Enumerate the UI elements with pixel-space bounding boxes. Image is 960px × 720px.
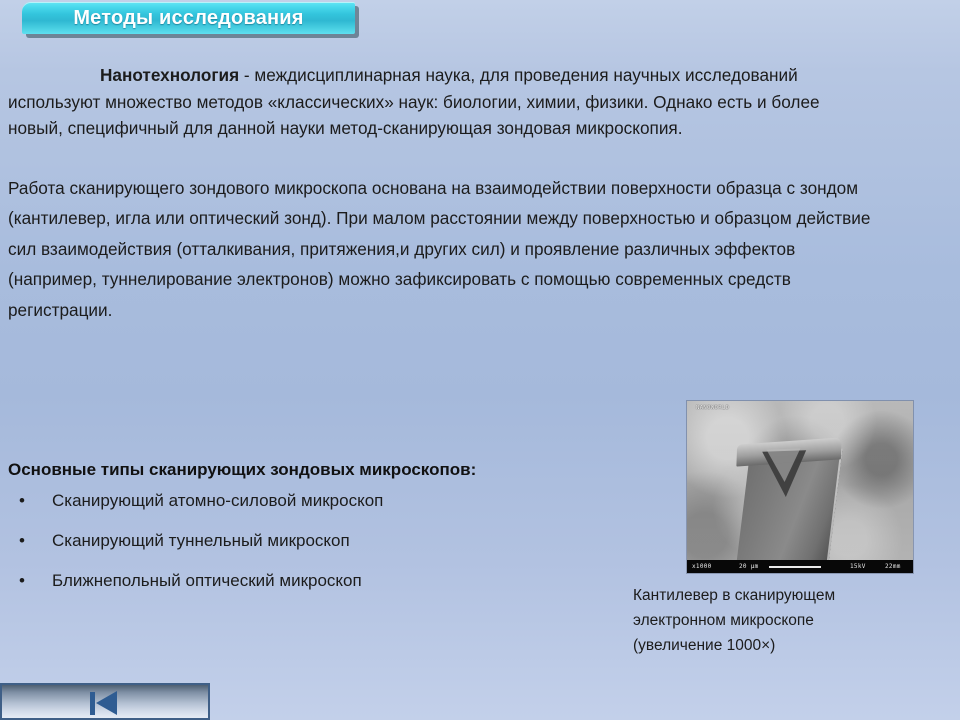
list-item: • Сканирующий атомно-силовой микроскоп xyxy=(8,490,618,512)
slide-title-banner: Методы исследования xyxy=(22,2,355,34)
list-item-label: Сканирующий туннельный микроскоп xyxy=(52,531,350,550)
bullet-icon: • xyxy=(19,530,25,552)
figure-caption-line-1: Кантилевер в сканирующем xyxy=(633,583,933,608)
sem-working-distance-label: 22mm xyxy=(885,563,901,570)
microscope-types-block: Основные типы сканирующих зондовых микро… xyxy=(8,459,618,610)
slide-title-plate: Методы исследования xyxy=(22,2,355,34)
slide-body: Нанотехнология - междисциплинарная наука… xyxy=(8,62,886,325)
paragraph-principle: Работа сканирующего зондового микроскопа… xyxy=(8,173,880,326)
list-item: • Ближнепольный оптический микроскоп xyxy=(8,570,618,592)
cantilever-figure: NANOWORLD x1000 20 µm 15kV 22mm Кантилев… xyxy=(687,401,913,573)
sem-scale-bar xyxy=(769,566,821,568)
paragraph-intro: Нанотехнология - междисциплинарная наука… xyxy=(8,62,876,142)
list-item-label: Ближнепольный оптический микроскоп xyxy=(52,571,362,590)
sem-info-bar: x1000 20 µm 15kV 22mm xyxy=(687,560,913,573)
bottom-navigation-bar xyxy=(0,683,210,720)
sem-magnification-label: x1000 xyxy=(692,563,712,570)
skip-previous-icon xyxy=(90,692,95,715)
sem-scale-label: 20 µm xyxy=(739,563,759,570)
triangle-left-icon xyxy=(96,691,117,715)
skip-to-first-slide-button[interactable] xyxy=(90,691,122,715)
sem-voltage-label: 15kV xyxy=(850,563,866,570)
list-item-label: Сканирующий атомно-силовой микроскоп xyxy=(52,491,383,510)
list-item: • Сканирующий туннельный микроскоп xyxy=(8,530,618,552)
sem-watermark-label: NANOWORLD xyxy=(696,405,729,411)
paragraph-intro-lead: Нанотехнология xyxy=(100,65,239,85)
page-title: Методы исследования xyxy=(73,7,303,30)
microscope-types-list: • Сканирующий атомно-силовой микроскоп •… xyxy=(8,490,618,592)
sem-micrograph-image: NANOWORLD x1000 20 µm 15kV 22mm xyxy=(687,401,913,573)
figure-caption: Кантилевер в сканирующем электронном мик… xyxy=(633,583,933,658)
figure-caption-line-3: (увеличение 1000×) xyxy=(633,633,933,658)
bullet-icon: • xyxy=(19,570,25,592)
cantilever-tip-highlight xyxy=(766,448,801,482)
figure-caption-line-2: электронном микроскопе xyxy=(633,608,933,633)
microscope-types-heading: Основные типы сканирующих зондовых микро… xyxy=(8,459,618,481)
bullet-icon: • xyxy=(19,490,25,512)
